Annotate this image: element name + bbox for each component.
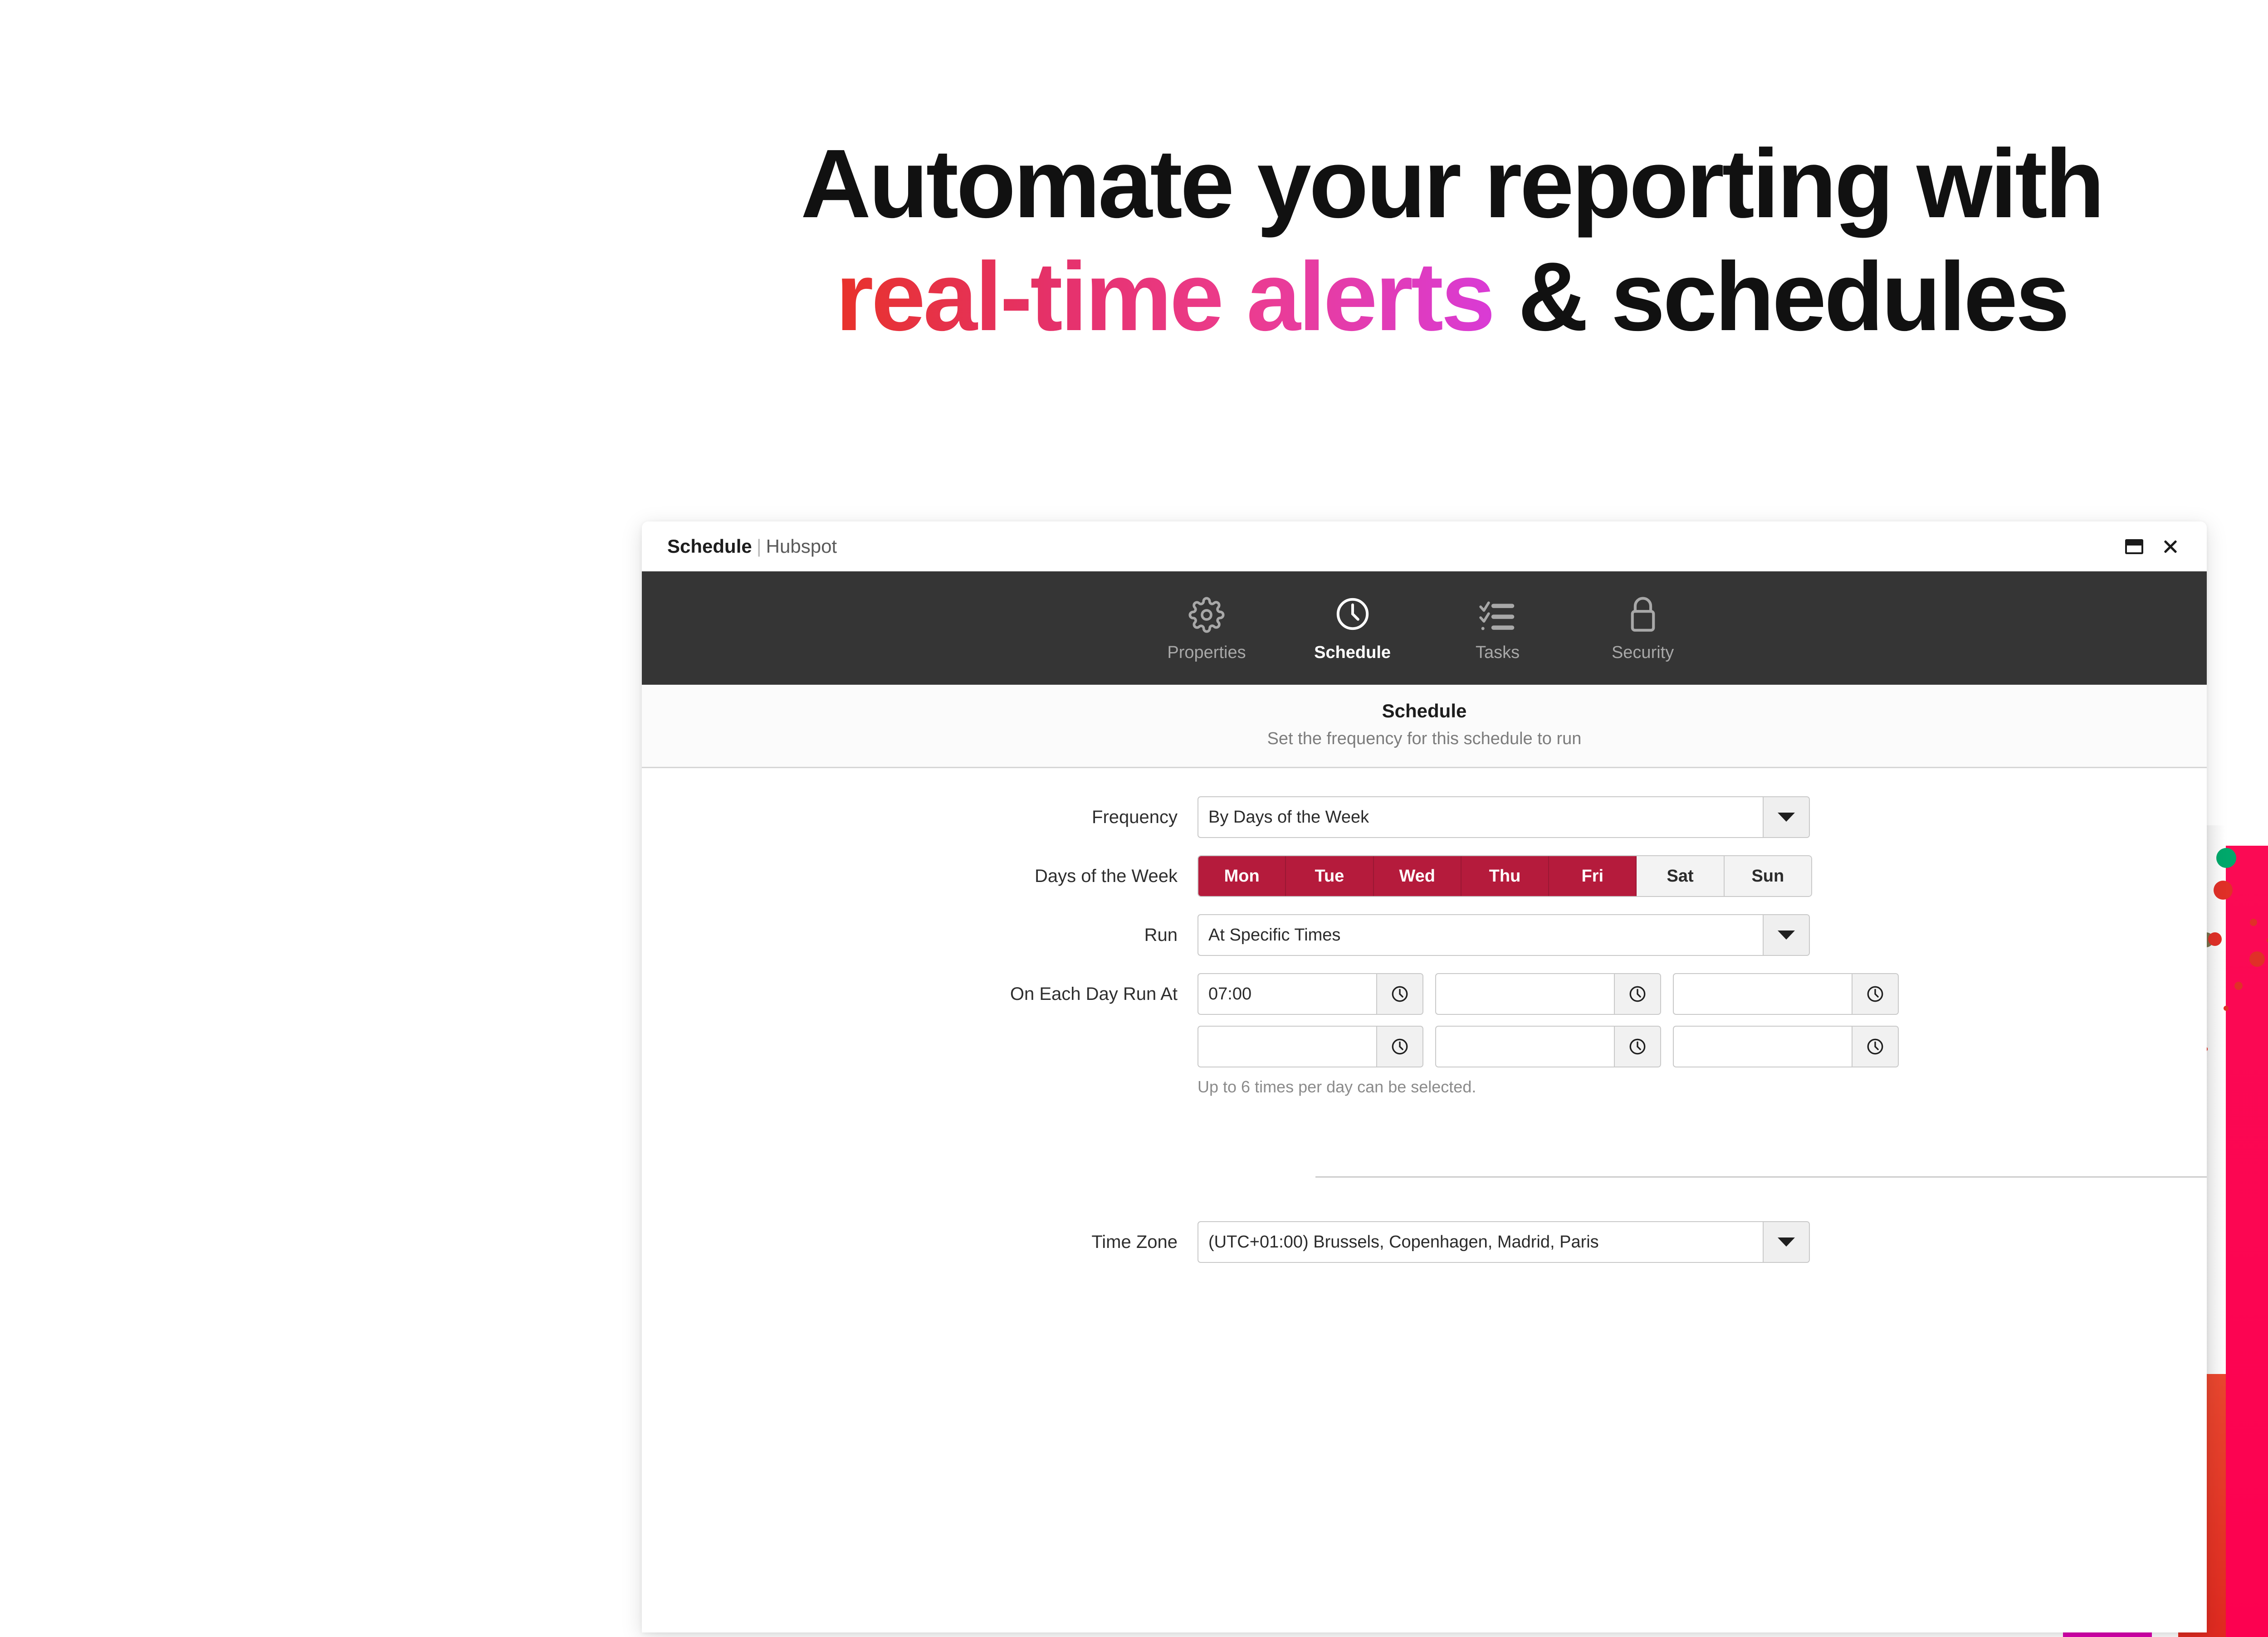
timezone-row: Time Zone (UTC+01:00) Brussels, Copenhag…	[642, 1221, 2207, 1263]
frequency-dropdown-button[interactable]	[1763, 797, 1809, 837]
nav-item-security[interactable]: Security	[1604, 594, 1681, 663]
time-input-1-value[interactable]: 07:00	[1198, 974, 1376, 1014]
section-subheading: Set the frequency for this schedule to r…	[642, 729, 2207, 749]
clock-icon	[1628, 1037, 1647, 1056]
restore-window-button[interactable]	[2116, 528, 2152, 565]
lock-icon	[1626, 594, 1660, 633]
clock-icon	[1866, 984, 1885, 1004]
clock-icon	[1390, 984, 1409, 1004]
nav-item-schedule[interactable]: Schedule	[1314, 594, 1391, 663]
chevron-down-icon	[1778, 931, 1795, 940]
time-input-6-value[interactable]	[1674, 1027, 1852, 1067]
clock-icon	[1390, 1037, 1409, 1056]
time-picker-button-4[interactable]	[1376, 1027, 1422, 1067]
schedule-dialog-window: Schedule|Hubspot Properties	[642, 521, 2207, 1632]
time-input-2[interactable]	[1435, 973, 1661, 1015]
day-toggle-fri[interactable]: Fri	[1549, 856, 1637, 896]
run-times-control: 07:00	[1198, 973, 2207, 1096]
chevron-down-icon	[1778, 1237, 1795, 1247]
chevron-down-icon	[1778, 813, 1795, 822]
checklist-icon	[1479, 594, 1516, 633]
time-picker-button-2[interactable]	[1614, 974, 1660, 1014]
section-header: Schedule Set the frequency for this sche…	[642, 685, 2207, 768]
run-times-label: On Each Day Run At	[642, 973, 1198, 1015]
gear-icon	[1188, 594, 1225, 633]
day-toggle-tue[interactable]: Tue	[1286, 856, 1374, 896]
dialog-title-separator: |	[752, 536, 766, 557]
headline-accent: real-time alerts	[836, 242, 1493, 351]
day-toggle-thu[interactable]: Thu	[1461, 856, 1549, 896]
time-input-4[interactable]	[1198, 1026, 1423, 1067]
frequency-value: By Days of the Week	[1198, 797, 1763, 837]
time-input-3[interactable]	[1673, 973, 1899, 1015]
time-picker-button-1[interactable]	[1376, 974, 1422, 1014]
confetti-dot	[2250, 919, 2257, 926]
dialog-nav-bar: Properties Schedule	[642, 571, 2207, 685]
nav-label-security: Security	[1612, 643, 1674, 663]
run-select[interactable]: At Specific Times	[1198, 914, 1810, 956]
run-control: At Specific Times	[1198, 914, 2207, 956]
run-value: At Specific Times	[1198, 915, 1763, 955]
clock-icon	[1334, 594, 1372, 633]
confetti-dot	[2216, 848, 2236, 868]
frequency-select[interactable]: By Days of the Week	[1198, 796, 1810, 838]
day-toggle-wed[interactable]: Wed	[1374, 856, 1461, 896]
run-times-hint: Up to 6 times per day can be selected.	[1198, 1077, 2207, 1096]
confetti-dot	[2214, 881, 2233, 900]
dialog-title-bar: Schedule|Hubspot	[642, 521, 2207, 571]
time-picker-button-3[interactable]	[1852, 974, 1898, 1014]
days-of-week-label: Days of the Week	[642, 855, 1198, 897]
section-heading: Schedule	[642, 700, 2207, 722]
page-headline: Automate your reporting with real-time a…	[0, 127, 2268, 353]
days-of-week-row: Days of the Week Mon Tue Wed Thu Fri Sat…	[642, 855, 2207, 897]
day-toggle-mon[interactable]: Mon	[1198, 856, 1286, 896]
form-divider	[1315, 1176, 2207, 1178]
clock-icon	[1628, 984, 1647, 1004]
dialog-title-primary: Schedule	[667, 536, 752, 557]
window-restore-icon	[2125, 539, 2143, 554]
timezone-value: (UTC+01:00) Brussels, Copenhagen, Madrid…	[1198, 1222, 1763, 1262]
time-input-1[interactable]: 07:00	[1198, 973, 1423, 1015]
timezone-control: (UTC+01:00) Brussels, Copenhagen, Madrid…	[1198, 1221, 2207, 1263]
day-toggle-sat[interactable]: Sat	[1637, 856, 1724, 896]
frequency-control: By Days of the Week	[1198, 796, 2207, 838]
close-window-button[interactable]	[2152, 528, 2189, 565]
timezone-select[interactable]: (UTC+01:00) Brussels, Copenhagen, Madrid…	[1198, 1221, 1810, 1263]
time-picker-button-5[interactable]	[1614, 1027, 1660, 1067]
close-icon	[2161, 537, 2180, 555]
confetti-dot	[2249, 951, 2265, 967]
run-dropdown-button[interactable]	[1763, 915, 1809, 955]
dialog-title-secondary: Hubspot	[766, 536, 837, 557]
run-times-grid: 07:00	[1198, 973, 1905, 1067]
days-of-week-toggle-group: Mon Tue Wed Thu Fri Sat Sun	[1198, 855, 1812, 897]
headline-line-1: Automate your reporting with	[801, 129, 2102, 238]
schedule-form: Frequency By Days of the Week Days of th…	[642, 768, 2207, 1263]
days-of-week-control: Mon Tue Wed Thu Fri Sat Sun	[1198, 855, 2207, 897]
run-times-row: On Each Day Run At 07:00	[642, 973, 2207, 1096]
run-row: Run At Specific Times	[642, 914, 2207, 956]
frequency-row: Frequency By Days of the Week	[642, 796, 2207, 838]
clock-icon	[1866, 1037, 1885, 1056]
time-input-4-value[interactable]	[1198, 1027, 1376, 1067]
timezone-label: Time Zone	[642, 1221, 1198, 1263]
nav-label-properties: Properties	[1167, 643, 1246, 663]
confetti-dot	[2224, 1006, 2229, 1011]
timezone-dropdown-button[interactable]	[1763, 1222, 1809, 1262]
headline-line-2-rest: & schedules	[1493, 242, 2068, 351]
headline-line-2: real-time alerts & schedules	[0, 240, 2268, 353]
run-label: Run	[642, 914, 1198, 956]
nav-label-tasks: Tasks	[1476, 643, 1520, 663]
confetti-dot	[2208, 932, 2222, 946]
time-input-5-value[interactable]	[1436, 1027, 1614, 1067]
time-input-2-value[interactable]	[1436, 974, 1614, 1014]
time-input-5[interactable]	[1435, 1026, 1661, 1067]
time-picker-button-6[interactable]	[1852, 1027, 1898, 1067]
nav-item-tasks[interactable]: Tasks	[1459, 594, 1536, 663]
nav-label-schedule: Schedule	[1314, 643, 1391, 663]
dialog-title: Schedule|Hubspot	[667, 536, 837, 557]
time-input-6[interactable]	[1673, 1026, 1899, 1067]
time-input-3-value[interactable]	[1674, 974, 1852, 1014]
frequency-label: Frequency	[642, 796, 1198, 838]
nav-item-properties[interactable]: Properties	[1167, 594, 1246, 663]
day-toggle-sun[interactable]: Sun	[1725, 856, 1811, 896]
confetti-dot	[2234, 982, 2243, 990]
